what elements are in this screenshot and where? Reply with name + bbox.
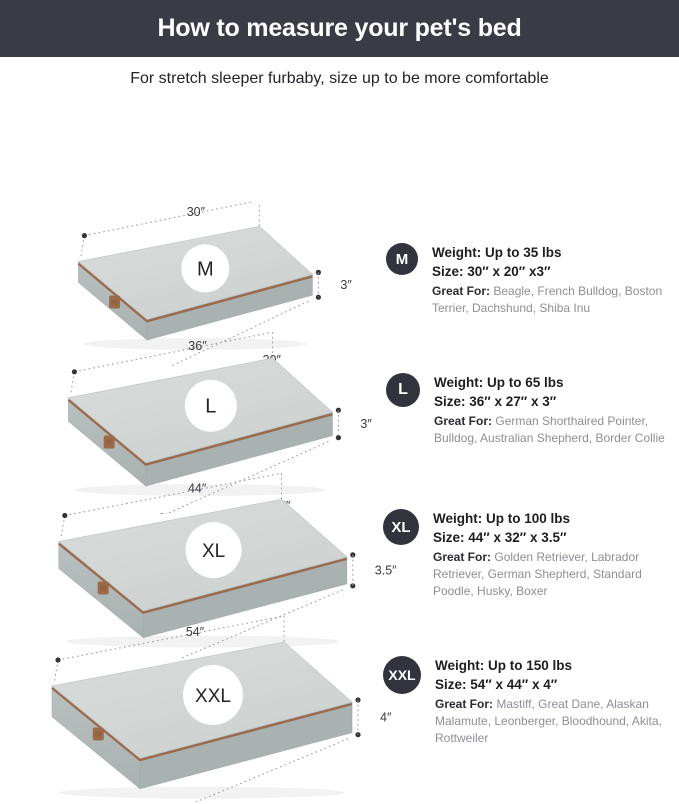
great-for-line: Great For: Beagle, French Bulldog, Bosto… bbox=[432, 283, 664, 317]
size-line: Size: 36″ x 27″ x 3″ bbox=[434, 392, 666, 411]
bed-size-circle-label: L bbox=[205, 396, 216, 418]
size-badge-label: M bbox=[396, 251, 409, 268]
great-for-label: Great For: bbox=[433, 550, 491, 564]
size-badge-xxl: XXL bbox=[383, 656, 421, 694]
size-info-m: M Weight: Up to 35 lbs Size: 30″ x 20″ x… bbox=[386, 243, 664, 317]
great-for-line: Great For: Golden Retriever, Labrador Re… bbox=[433, 549, 665, 600]
dim-length-label: 36″ bbox=[188, 339, 207, 353]
bed-size-circle-label: XXL bbox=[195, 686, 231, 707]
subtitle-text: For stretch sleeper furbaby, size up to … bbox=[130, 70, 549, 88]
dim-length-label: 44″ bbox=[188, 481, 207, 495]
great-for-line: Great For: Mastiff, Great Dane, Alaskan … bbox=[435, 696, 667, 747]
dim-length-label: 30″ bbox=[187, 205, 206, 219]
bed-size-circle-label: XL bbox=[202, 541, 225, 562]
great-for-label: Great For: bbox=[432, 284, 490, 298]
bed-shadow bbox=[59, 787, 345, 799]
size-badge-l: L bbox=[386, 373, 420, 407]
subtitle-container: For stretch sleeper furbaby, size up to … bbox=[0, 57, 679, 101]
great-for-label: Great For: bbox=[435, 697, 493, 711]
size-badge-m: M bbox=[386, 243, 418, 275]
page-title: How to measure your pet's bed bbox=[157, 14, 521, 43]
size-badge-xl: XL bbox=[383, 509, 419, 545]
size-row-xxl: XXL 54″ 4″ 44″ XXL Weight: Up to 150 lbs… bbox=[0, 614, 679, 804]
bed-size-circle-label: M bbox=[197, 258, 214, 280]
weight-line: Weight: Up to 150 lbs bbox=[435, 656, 667, 675]
size-info-text: Weight: Up to 150 lbs Size: 54″ x 44″ x … bbox=[435, 656, 667, 747]
header-bar: How to measure your pet's bed bbox=[0, 0, 679, 57]
size-badge-label: L bbox=[398, 381, 408, 399]
size-info-text: Weight: Up to 100 lbs Size: 44″ x 32″ x … bbox=[433, 509, 665, 600]
great-for-label: Great For: bbox=[434, 414, 492, 428]
weight-line: Weight: Up to 65 lbs bbox=[434, 373, 666, 392]
size-info-xxl: XXL Weight: Up to 150 lbs Size: 54″ x 44… bbox=[383, 656, 667, 747]
size-badge-label: XL bbox=[391, 519, 410, 536]
size-line: Size: 44″ x 32″ x 3.5″ bbox=[433, 528, 665, 547]
weight-line: Weight: Up to 100 lbs bbox=[433, 509, 665, 528]
size-info-l: L Weight: Up to 65 lbs Size: 36″ x 27″ x… bbox=[386, 373, 666, 447]
size-line: Size: 54″ x 44″ x 4″ bbox=[435, 675, 667, 694]
dim-height-label: 3″ bbox=[360, 417, 372, 431]
size-badge-label: XXL bbox=[388, 667, 415, 683]
great-for-line: Great For: German Shorthaired Pointer, B… bbox=[434, 413, 666, 447]
size-info-text: Weight: Up to 35 lbs Size: 30″ x 20″ x3″… bbox=[432, 243, 664, 317]
dim-length-label: 54″ bbox=[186, 625, 205, 639]
size-line: Size: 30″ x 20″ x3″ bbox=[432, 262, 664, 281]
size-info-xl: XL Weight: Up to 100 lbs Size: 44″ x 32″… bbox=[383, 509, 665, 600]
weight-line: Weight: Up to 35 lbs bbox=[432, 243, 664, 262]
size-info-text: Weight: Up to 65 lbs Size: 36″ x 27″ x 3… bbox=[434, 373, 666, 447]
dim-height-label: 3″ bbox=[340, 278, 352, 292]
